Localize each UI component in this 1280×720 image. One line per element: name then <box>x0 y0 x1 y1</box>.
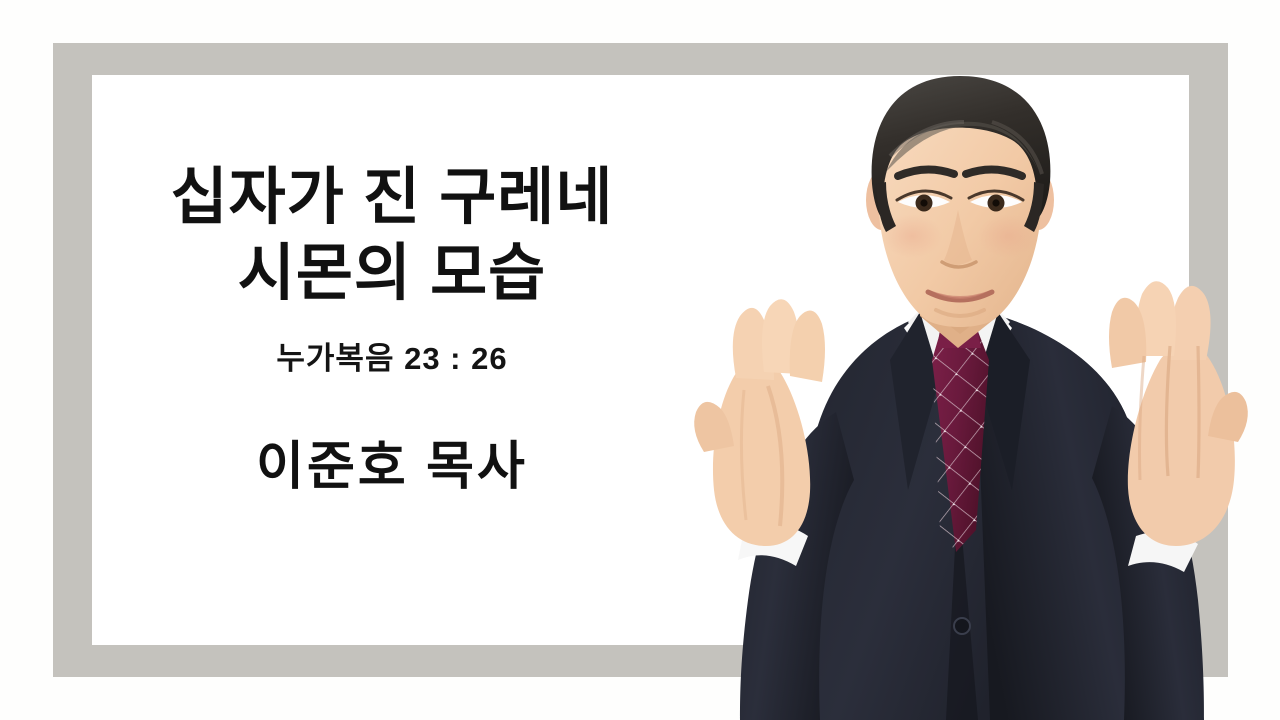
sermon-title-line-2: 시몬의 모습 <box>92 236 692 312</box>
sermon-title-slide: 십자가 진 구레네 시몬의 모습 누가복음 23 : 26 이준호 목사 <box>0 0 1280 720</box>
speaker-portrait <box>640 60 1280 720</box>
speaker-name: 이준호 목사 <box>92 436 692 498</box>
scripture-reference: 누가복음 23 : 26 <box>92 340 692 378</box>
sermon-title-line-1: 십자가 진 구레네 <box>92 160 692 236</box>
slide-text-block: 십자가 진 구레네 시몬의 모습 누가복음 23 : 26 이준호 목사 <box>92 160 692 498</box>
